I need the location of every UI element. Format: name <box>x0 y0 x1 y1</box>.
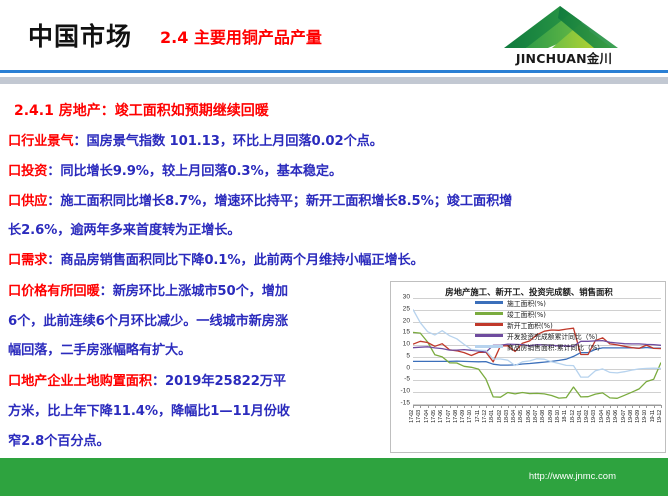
chart-legend-swatch <box>475 323 503 325</box>
chart-x-tick-label: 17-03 <box>417 410 423 423</box>
chart-x-tick-label: 19-12 <box>658 410 664 423</box>
chart-y-tick-label: 20 <box>403 318 410 325</box>
chart-x-tick-label: 19-05 <box>607 410 613 423</box>
chart-x-tick <box>595 405 596 408</box>
chart-x-tick-label: 18-02 <box>498 410 504 423</box>
chart-legend-item: 商品房销售面积:累计同比（%） <box>475 341 604 352</box>
chart-x-tick-label: 19-10 <box>643 410 649 423</box>
chart-x-tick <box>617 405 618 408</box>
chart-x-tick-label: 19-03 <box>592 410 598 423</box>
chart-x-tick <box>654 405 655 408</box>
chart-x-tick <box>632 405 633 408</box>
chart-x-tick-label: 18-08 <box>541 410 547 423</box>
chart-x-tick <box>457 405 458 408</box>
section-heading: 2.4.1 房地产：竣工面积如预期继续回暖 <box>14 100 269 120</box>
chart-x-tick <box>450 405 451 408</box>
chart-x-tick <box>646 405 647 408</box>
chart-x-tick <box>588 405 589 408</box>
jinchuan-mountain-logo-icon <box>482 4 642 50</box>
chart-legend-item: 开发投资完成额累计同比（%） <box>475 330 604 341</box>
chart-x-tick <box>639 405 640 408</box>
chart-x-tick-label: 19-04 <box>600 410 606 423</box>
slide-header: 中国市场 2.4 主要用铜产品产量 <box>0 0 668 72</box>
chart-x-tick <box>493 405 494 408</box>
chart-x-tick-label: 17-11 <box>476 410 482 422</box>
chart-x-tick-label: 18-06 <box>527 410 533 423</box>
chart-x-tick-label: 19-06 <box>614 410 620 423</box>
chart-y-tick-label: -5 <box>404 377 410 384</box>
chart-legend-item: 施工面积(%) <box>475 297 604 308</box>
chart-legend-item: 新开工面积(%) <box>475 319 604 330</box>
chart-x-tick <box>522 405 523 408</box>
bullet-line-7: 6个，此前连续6个月环比减少。一线城市新房涨 <box>8 310 288 329</box>
chart-x-tick <box>603 405 604 408</box>
chart-x-tick-label: 17-06 <box>439 410 445 423</box>
chart-legend-swatch <box>475 334 503 336</box>
page-title: 中国市场 <box>28 17 132 53</box>
bullet-line-8: 幅回落，二手房涨幅略有扩大。 <box>8 339 191 358</box>
chart-x-tick-label: 18-07 <box>534 410 540 423</box>
chart-legend-swatch <box>475 345 503 347</box>
chart-legend-item: 竣工面积(%) <box>475 308 604 319</box>
chart-x-tick-label: 19-01 <box>578 410 584 423</box>
chart-x-tick <box>661 405 662 408</box>
chart-x-tick-label: 17-08 <box>454 410 460 423</box>
chart-x-tick <box>471 405 472 408</box>
chart-x-tick-label: 18-10 <box>556 410 562 423</box>
chart-x-tick-label: 17-12 <box>483 410 489 423</box>
chart-x-tick-label: 19-08 <box>629 410 635 423</box>
chart-x-tick <box>486 405 487 408</box>
chart-x-tick <box>420 405 421 408</box>
chart-x-tick <box>574 405 575 408</box>
chart-legend-label: 开发投资完成额累计同比（%） <box>507 331 602 341</box>
chart-y-tick-label: 15 <box>403 330 410 337</box>
chart-x-tick-label: 17-07 <box>447 410 453 423</box>
chart-y-tick-label: 0 <box>406 365 410 372</box>
chart-x-tick <box>464 405 465 408</box>
chart-x-tick-label: 19-11 <box>651 410 657 422</box>
bullet-line-6: 口价格有所回暖：新房环比上涨城市50个，增加 <box>8 280 288 299</box>
bullet-line-10: 方米，比上年下降11.4%，降幅比1—11月份收 <box>8 400 290 419</box>
brand-logo: JINCHUAN金川 <box>482 4 642 68</box>
chart-x-tick <box>566 405 567 408</box>
chart-x-tick-label: 19-02 <box>585 410 591 423</box>
chart-x-tick <box>435 405 436 408</box>
chart-x-tick <box>559 405 560 408</box>
chart-x-tick-label: 17-09 <box>461 410 467 423</box>
slide-root: 中国市场 2.4 主要用铜产品产量 <box>0 0 668 496</box>
chart-legend-label: 竣工面积(%) <box>507 309 546 319</box>
chart-x-tick <box>530 405 531 408</box>
bullet-line-9: 口地产企业土地购置面积：2019年25822万平 <box>8 370 286 389</box>
chart-y-tick-label: 5 <box>406 354 410 361</box>
chart-legend-swatch <box>475 301 503 303</box>
chart-x-tick-label: 17-10 <box>468 410 474 423</box>
chart-x-tick <box>610 405 611 408</box>
section-subtitle: 2.4 主要用铜产品产量 <box>160 24 322 48</box>
chart-x-tick-label: 18-04 <box>512 410 518 423</box>
chart-x-tick <box>501 405 502 408</box>
chart-x-tick-label: 17-05 <box>432 410 438 423</box>
bullet-line-5: 口需求：商品房销售面积同比下降0.1%，此前两个月维持小幅正增长。 <box>8 249 424 268</box>
chart-y-tick-label: 30 <box>403 295 410 302</box>
chart-legend: 施工面积(%)竣工面积(%)新开工面积(%)开发投资完成额累计同比（%）商品房销… <box>475 297 604 352</box>
chart-x-tick <box>413 405 414 408</box>
chart-x-tick <box>625 405 626 408</box>
chart-x-tick <box>442 405 443 408</box>
chart-x-tick-label: 17-02 <box>410 410 416 423</box>
chart-x-tick-label: 18-01 <box>490 410 496 423</box>
chart-x-tick-label: 18-05 <box>519 410 525 423</box>
chart-y-tick-label: -15 <box>400 401 410 408</box>
chart-legend-label: 新开工面积(%) <box>507 320 553 330</box>
chart-x-tick <box>515 405 516 408</box>
bullet-line-4: 长2.6%，逾两年多来首度转为正增长。 <box>8 219 241 238</box>
chart-x-tick <box>552 405 553 408</box>
header-gray-rule <box>0 77 668 84</box>
chart-x-tick-label: 18-09 <box>549 410 555 423</box>
chart-legend-label: 施工面积(%) <box>507 298 546 308</box>
chart-y-tick-label: -10 <box>400 389 410 396</box>
brand-logo-text: JINCHUAN金川 <box>486 48 642 67</box>
chart-x-tick-label: 19-07 <box>622 410 628 423</box>
bullet-line-2: 口投资：同比增长9.9%，较上月回落0.3%，基本稳定。 <box>8 160 342 179</box>
chart-x-tick <box>537 405 538 408</box>
chart-legend-swatch <box>475 312 503 314</box>
chart-x-tick <box>508 405 509 408</box>
chart-x-tick <box>479 405 480 408</box>
slide-footer: http://www.jnmc.com <box>0 458 668 496</box>
bullet-line-1: 口行业景气：国房景气指数 101.13，环比上月回落0.02个点。 <box>8 130 383 149</box>
chart-x-tick <box>428 405 429 408</box>
bullet-line-3: 口供应：施工面积同比增长8.7%，增速环比持平；新开工面积增长8.5%；竣工面积… <box>8 190 512 209</box>
chart-y-tick-label: 25 <box>403 306 410 313</box>
chart-x-tick-label: 18-12 <box>571 410 577 423</box>
chart-x-tick <box>581 405 582 408</box>
real-estate-chart: 房地产施工、新开工、投资完成额、销售面积 302520151050-5-10-1… <box>390 281 666 453</box>
chart-x-tick-label: 18-11 <box>563 410 569 422</box>
footer-url: http://www.jnmc.com <box>529 471 616 482</box>
chart-legend-label: 商品房销售面积:累计同比（%） <box>507 342 604 352</box>
chart-x-tick <box>544 405 545 408</box>
chart-x-tick-label: 17-04 <box>425 410 431 423</box>
chart-x-tick-label: 18-03 <box>505 410 511 423</box>
chart-x-tick-label: 19-09 <box>636 410 642 423</box>
chart-y-tick-label: 10 <box>403 342 410 349</box>
bullet-line-11: 窄2.8个百分点。 <box>8 430 110 449</box>
